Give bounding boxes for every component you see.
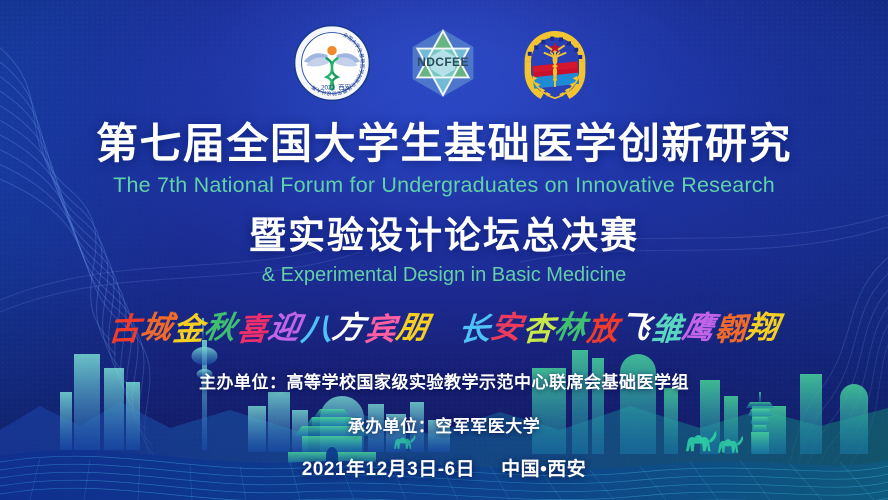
emblem-year: 2021 — [321, 84, 335, 91]
calligraphy-slogans: 古城金秋喜迎八方宾朋 长安杏林放飞雏鹰翱翔 — [109, 304, 779, 349]
competition-emblem-logo: 全国大学生基础医学创新论坛暨实验设计大赛 2021 西安 — [293, 24, 371, 107]
poster-content: 全国大学生基础医学创新论坛暨实验设计大赛 2021 西安 — [0, 0, 888, 500]
page-subtitle-english: & Experimental Design in Basic Medicine — [262, 264, 627, 287]
date-location-line: 2021年12月3日-6日 中国•西安 — [302, 454, 587, 481]
calligraphy-slogan-left: 古城金秋喜迎八方宾朋 — [109, 304, 429, 349]
page-title: 第七届全国大学生基础医学创新研究 — [96, 122, 792, 167]
logo-row: 全国大学生基础医学创新论坛暨实验设计大赛 2021 西安 — [293, 24, 595, 106]
calligraphy-char: 朋 — [393, 301, 433, 347]
page-title-english: The 7th National Forum for Undergraduate… — [113, 173, 775, 198]
emblem-city: 西安 — [338, 83, 350, 91]
event-location: 中国•西安 — [501, 454, 586, 481]
host-line: 承办单位：空军军医大学 — [348, 412, 541, 437]
conference-poster: 全国大学生基础医学创新论坛暨实验设计大赛 2021 西安 — [0, 0, 888, 500]
ndcfee-emblem-logo: NDCFEE — [403, 23, 483, 108]
organizer-line: 主办单位：高等学校国家级实验教学示范中心联席会基础医学组 — [199, 368, 689, 393]
air-force-medical-university-logo — [515, 23, 595, 108]
ndcfee-acronym: NDCFEE — [417, 55, 469, 69]
calligraphy-char: 翔 — [743, 301, 783, 347]
event-date: 2021年12月3日-6日 — [302, 454, 475, 481]
page-subtitle: 暨实验设计论坛总决赛 — [249, 205, 639, 259]
calligraphy-slogan-right: 长安杏林放飞雏鹰翱翔 — [459, 304, 779, 349]
